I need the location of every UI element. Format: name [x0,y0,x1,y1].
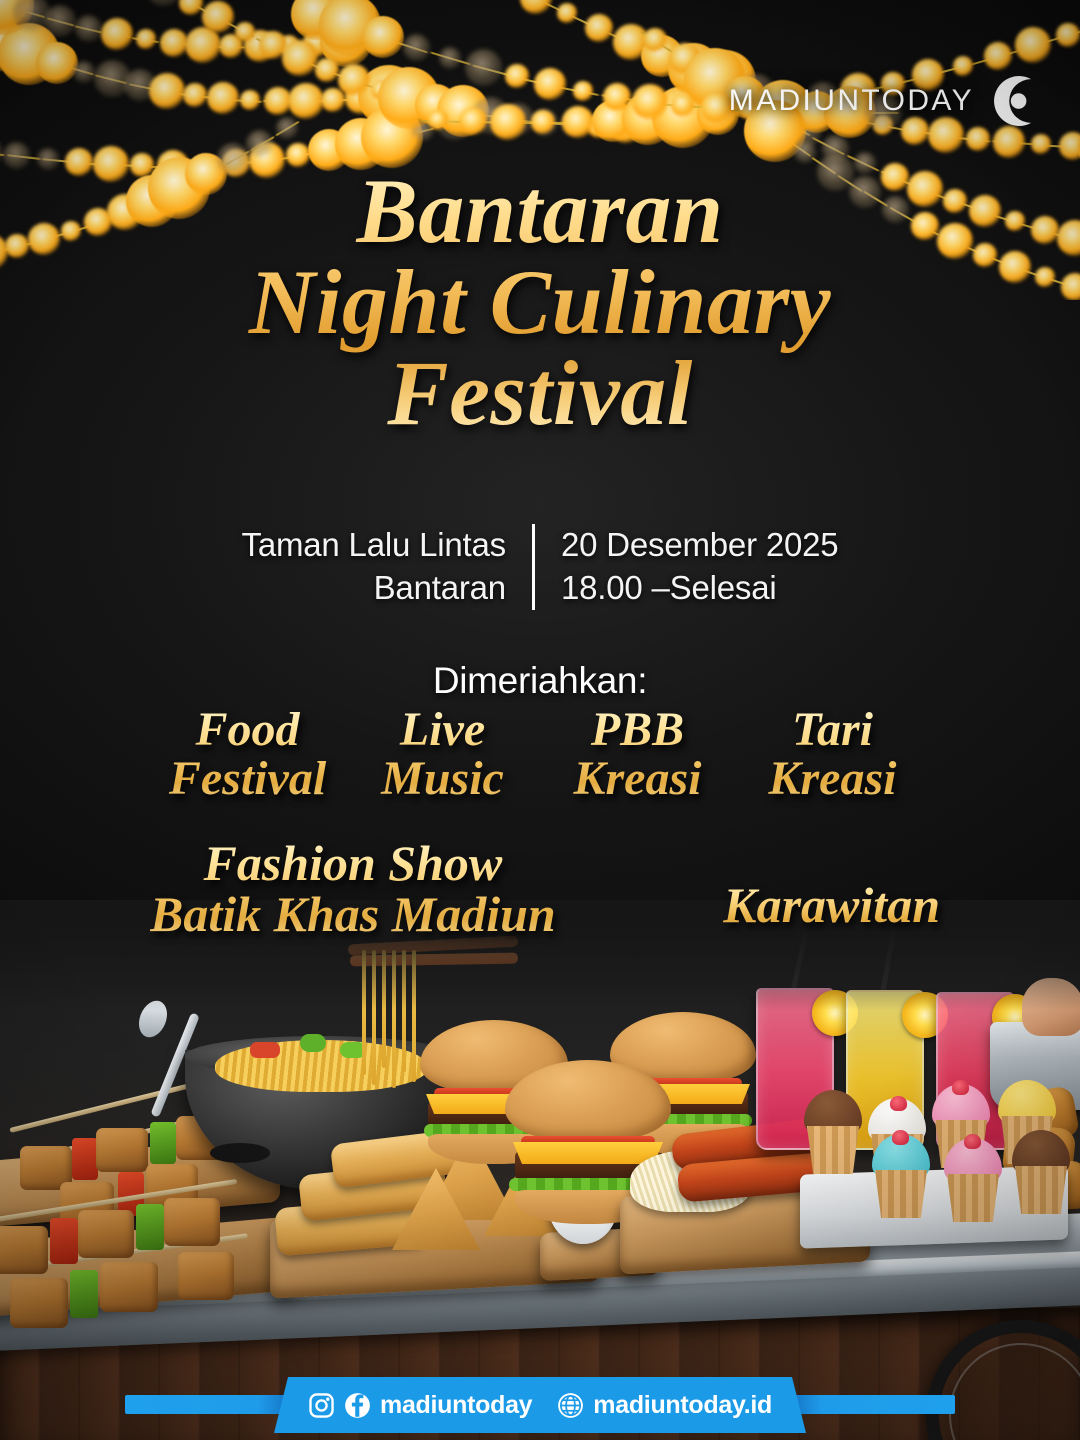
lineup-item: Karawitan [723,880,940,931]
title-line-3: Festival [40,348,1040,439]
lineup-row-2: Fashion Show Batik Khas Madiun Karawitan [120,838,960,940]
event-info-row: Taman Lalu Lintas Bantaran 20 Desember 2… [0,524,1080,610]
title-line-2: Night Culinary [40,257,1040,348]
lineup-item: Live Music [345,706,540,804]
logo-wordmark: MADIUNTODAY [729,86,974,116]
social-handle-tag[interactable]: madiuntoday madiuntoday [274,1377,806,1433]
lineup-item: Fashion Show Batik Khas Madiun [150,838,556,940]
event-datetime: 20 Desember 2025 18.00 –Selesai [535,524,838,610]
website-text: madiuntoday.id [593,1393,772,1418]
website-group[interactable]: madiuntoday.id [557,1392,772,1419]
globe-icon[interactable] [557,1392,584,1419]
facebook-icon[interactable] [344,1392,371,1419]
poster-title: Bantaran Night Culinary Festival [0,166,1080,439]
lineup-label: Dimeriahkan: [0,660,1080,702]
event-venue: Taman Lalu Lintas Bantaran [242,524,532,610]
lineup-row-1: Food Festival Live Music PBB Kreasi Tari… [150,706,930,804]
instagram-icon[interactable] [308,1392,335,1419]
poster-canvas: MADIUNTODAY Bantaran Night Culinary Fest… [0,0,1080,1440]
social-handle-text: madiuntoday [380,1393,532,1418]
lineup-item: PBB Kreasi [540,706,735,804]
food-spread-photo [0,900,1080,1440]
brand-logo: MADIUNTODAY [729,60,1042,142]
crescent-swoosh-icon [978,60,1042,142]
social-group[interactable]: madiuntoday [308,1392,532,1419]
lineup-item: Tari Kreasi [735,706,930,804]
lineup-item: Food Festival [150,706,345,804]
title-line-1: Bantaran [40,166,1040,257]
hand [1022,978,1080,1036]
